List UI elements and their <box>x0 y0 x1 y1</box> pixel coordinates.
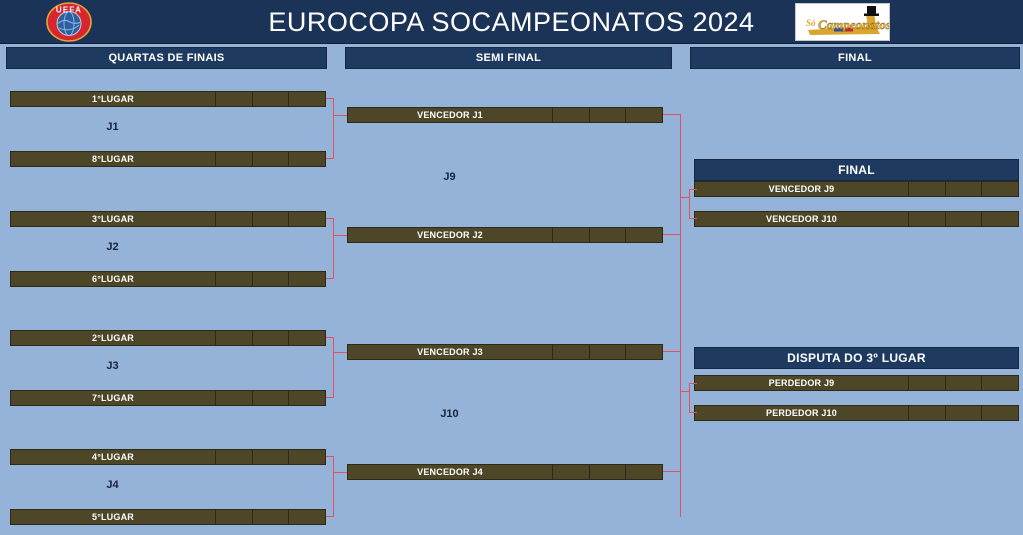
score-cell[interactable] <box>946 376 983 390</box>
connector <box>333 456 334 517</box>
match-row[interactable]: 8°LUGAR <box>10 151 326 167</box>
connector <box>689 189 690 219</box>
connector <box>333 352 347 353</box>
team-name[interactable]: VENCEDOR J1 <box>348 108 553 122</box>
match-row[interactable]: 7°LUGAR <box>10 390 326 406</box>
score-cell[interactable] <box>982 182 1018 196</box>
team-name[interactable]: 8°LUGAR <box>11 152 216 166</box>
match-label: J1 <box>10 121 215 133</box>
match-label: J2 <box>10 241 215 253</box>
score-cell[interactable] <box>590 345 627 359</box>
connector <box>689 383 697 384</box>
connector <box>663 471 681 472</box>
connector <box>689 218 697 219</box>
score-cell[interactable] <box>216 391 253 405</box>
score-cell[interactable] <box>289 92 325 106</box>
score-cell[interactable] <box>289 272 325 286</box>
score-cell[interactable] <box>253 510 290 524</box>
match-row[interactable]: VENCEDOR J2 <box>347 227 663 243</box>
match-row[interactable]: 3°LUGAR <box>10 211 326 227</box>
score-cell[interactable] <box>590 228 627 242</box>
score-cell[interactable] <box>289 152 325 166</box>
score-cell[interactable] <box>553 345 590 359</box>
team-name[interactable]: 6°LUGAR <box>11 272 216 286</box>
score-cell[interactable] <box>553 465 590 479</box>
match-row[interactable]: VENCEDOR J1 <box>347 107 663 123</box>
score-cell[interactable] <box>216 92 253 106</box>
score-cell[interactable] <box>216 331 253 345</box>
so-campeonatos-logo-icon: Só Campeonatos <box>795 3 890 41</box>
connector <box>663 234 681 235</box>
connector <box>333 218 334 279</box>
team-name[interactable]: 3°LUGAR <box>11 212 216 226</box>
score-cell[interactable] <box>253 331 290 345</box>
score-cell[interactable] <box>289 212 325 226</box>
match-row[interactable]: 4°LUGAR <box>10 449 326 465</box>
score-cell[interactable] <box>253 212 290 226</box>
score-cell[interactable] <box>626 345 662 359</box>
score-cell[interactable] <box>946 212 983 226</box>
score-cell[interactable] <box>253 92 290 106</box>
connector <box>326 397 334 398</box>
connector <box>326 278 334 279</box>
score-cell[interactable] <box>626 108 662 122</box>
team-name[interactable]: VENCEDOR J4 <box>348 465 553 479</box>
connector <box>663 114 681 115</box>
connector <box>680 114 681 517</box>
title-bar: UEFA EUROCOPA SOCAMPEONATOS 2024 Só Camp… <box>0 0 1023 44</box>
score-cell[interactable] <box>289 450 325 464</box>
score-cell[interactable] <box>289 331 325 345</box>
connector <box>333 115 347 116</box>
match-row[interactable]: 1°LUGAR <box>10 91 326 107</box>
score-cell[interactable] <box>982 376 1018 390</box>
score-cell[interactable] <box>982 212 1018 226</box>
score-cell[interactable] <box>553 108 590 122</box>
connector <box>333 235 347 236</box>
match-row[interactable]: 5°LUGAR <box>10 509 326 525</box>
team-name[interactable]: VENCEDOR J9 <box>695 182 909 196</box>
svg-text:Só: Só <box>806 18 816 28</box>
score-cell[interactable] <box>946 406 983 420</box>
match-row[interactable]: 2°LUGAR <box>10 330 326 346</box>
score-cell[interactable] <box>982 406 1018 420</box>
score-cell[interactable] <box>626 465 662 479</box>
score-cell[interactable] <box>253 272 290 286</box>
round-header-quartas: QUARTAS DE FINAIS <box>6 47 327 69</box>
connector <box>663 351 681 352</box>
score-cell[interactable] <box>289 510 325 524</box>
match-row[interactable]: VENCEDOR J9 <box>694 181 1019 197</box>
match-row[interactable]: PERDEDOR J9 <box>694 375 1019 391</box>
third-place-section-heading: DISPUTA DO 3º LUGAR <box>694 347 1019 369</box>
score-cell[interactable] <box>590 465 627 479</box>
score-cell[interactable] <box>626 228 662 242</box>
connector <box>333 337 334 398</box>
score-cell[interactable] <box>289 391 325 405</box>
match-row[interactable]: PERDEDOR J10 <box>694 405 1019 421</box>
svg-text:Campeonatos: Campeonatos <box>818 17 889 32</box>
connector <box>689 412 697 413</box>
round-header-semi: SEMI FINAL <box>345 47 672 69</box>
match-label: J3 <box>10 360 215 372</box>
team-name[interactable]: 2°LUGAR <box>11 331 216 345</box>
final-section-heading: FINAL <box>694 159 1019 181</box>
score-cell[interactable] <box>216 510 253 524</box>
score-cell[interactable] <box>216 152 253 166</box>
score-cell[interactable] <box>253 391 290 405</box>
score-cell[interactable] <box>216 450 253 464</box>
team-name[interactable]: PERDEDOR J10 <box>695 406 909 420</box>
connector <box>326 516 334 517</box>
team-name[interactable]: 5°LUGAR <box>11 510 216 524</box>
team-name[interactable]: 4°LUGAR <box>11 450 216 464</box>
team-name[interactable]: 1°LUGAR <box>11 92 216 106</box>
connector <box>689 383 690 413</box>
score-cell[interactable] <box>553 228 590 242</box>
connector <box>689 189 697 190</box>
score-cell[interactable] <box>909 376 946 390</box>
connector <box>333 98 334 159</box>
connector <box>326 158 334 159</box>
score-cell[interactable] <box>909 212 946 226</box>
score-cell[interactable] <box>216 272 253 286</box>
team-name[interactable]: PERDEDOR J9 <box>695 376 909 390</box>
match-row[interactable]: 6°LUGAR <box>10 271 326 287</box>
match-row[interactable]: VENCEDOR J10 <box>694 211 1019 227</box>
match-label: J10 <box>347 408 552 420</box>
score-cell[interactable] <box>909 406 946 420</box>
match-row[interactable]: VENCEDOR J3 <box>347 344 663 360</box>
score-cell[interactable] <box>253 450 290 464</box>
team-name[interactable]: VENCEDOR J2 <box>348 228 553 242</box>
score-cell[interactable] <box>590 108 627 122</box>
connector <box>333 472 347 473</box>
match-row[interactable]: VENCEDOR J4 <box>347 464 663 480</box>
score-cell[interactable] <box>909 182 946 196</box>
team-name[interactable]: 7°LUGAR <box>11 391 216 405</box>
team-name[interactable]: VENCEDOR J3 <box>348 345 553 359</box>
round-header-final: FINAL <box>690 47 1020 69</box>
match-label: J4 <box>10 479 215 491</box>
match-label: J9 <box>347 171 552 183</box>
team-name[interactable]: VENCEDOR J10 <box>695 212 909 226</box>
score-cell[interactable] <box>216 212 253 226</box>
score-cell[interactable] <box>253 152 290 166</box>
score-cell[interactable] <box>946 182 983 196</box>
